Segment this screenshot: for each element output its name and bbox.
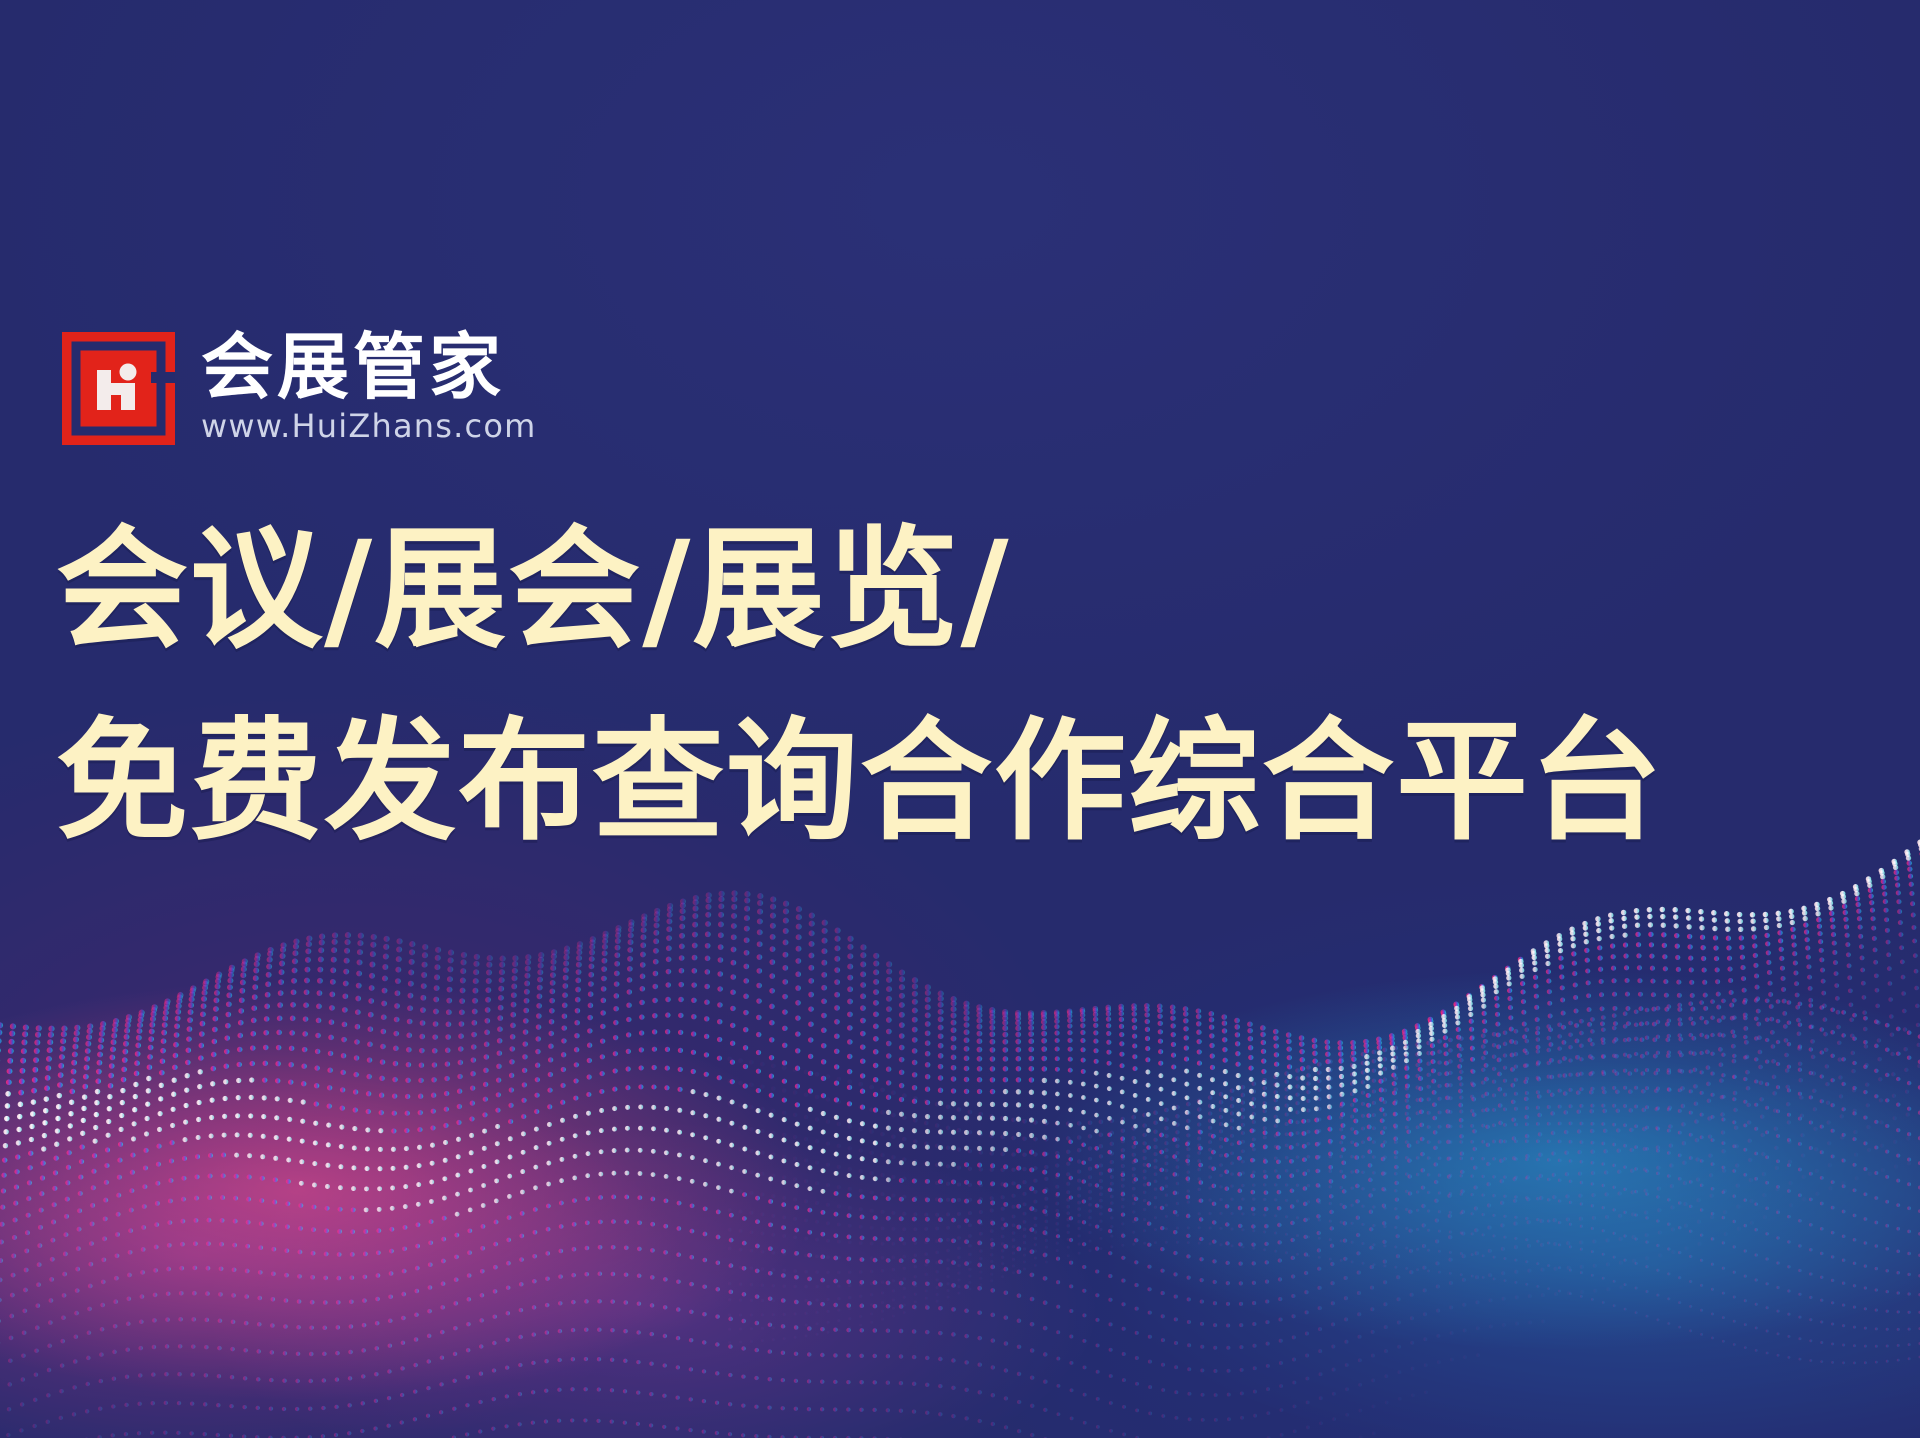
brand-url: www.HuiZhans.com [201, 410, 536, 442]
brand-name-cn: 会展管家 [201, 334, 536, 401]
headline-line-1: 会议/展会/展览/ [56, 524, 1856, 656]
wave-glow-overlay [0, 980, 1920, 1438]
brand-lockup: 会展管家 www.HuiZhans.com [62, 332, 536, 445]
headline-block: 会议/展会/展览/ 免费发布查询合作综合平台 [56, 524, 1856, 848]
brand-text-block: 会展管家 www.HuiZhans.com [201, 332, 536, 442]
hi-monogram-logo-icon [62, 332, 175, 445]
poster-canvas: 会展管家 www.HuiZhans.com 会议/展会/展览/ 免费发布查询合作… [0, 0, 1920, 1438]
headline-line-2: 免费发布查询合作综合平台 [56, 716, 1856, 848]
particle-wave-graphic [0, 760, 1920, 1438]
